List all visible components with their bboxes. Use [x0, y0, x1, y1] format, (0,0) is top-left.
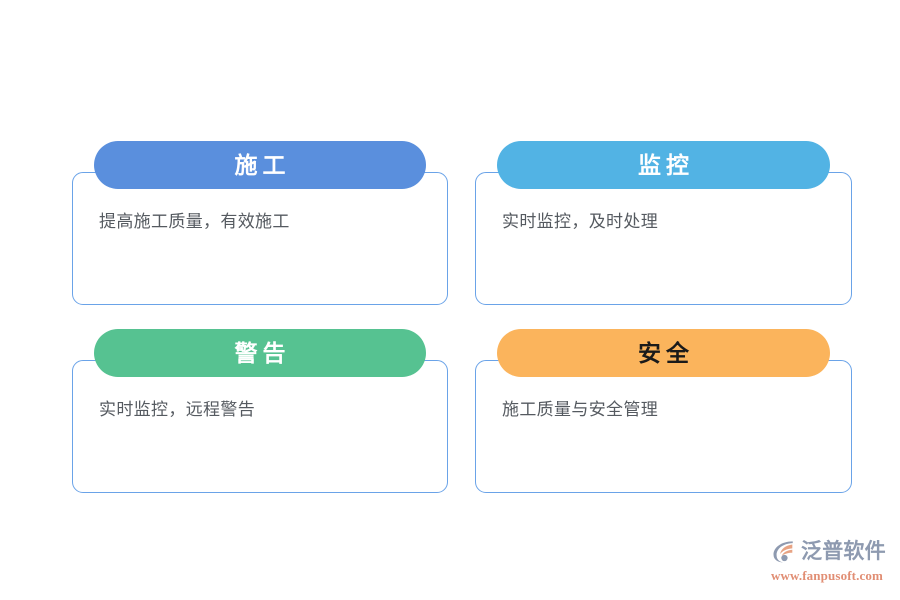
watermark: 泛普软件 www.fanpusoft.com	[770, 536, 888, 586]
fanpu-logo-icon	[770, 537, 798, 565]
card-description-monitoring: 实时监控，及时处理	[502, 209, 831, 235]
card-header-construction: 施工	[94, 141, 426, 189]
watermark-url-text: www.fanpusoft.com	[771, 569, 883, 582]
card-title-monitoring: 监控	[633, 154, 694, 177]
card-description-safety: 施工质量与安全管理	[502, 397, 831, 423]
card-header-monitoring: 监控	[497, 141, 830, 189]
card-header-safety: 安全	[497, 329, 830, 377]
page-canvas: 施工 提高施工质量，有效施工 监控 实时监控，及时处理 警告 实时监控，远程警告…	[0, 0, 900, 600]
feature-card-safety[interactable]: 安全 施工质量与安全管理	[475, 360, 852, 493]
card-title-construction: 施工	[229, 154, 290, 177]
feature-card-warning[interactable]: 警告 实时监控，远程警告	[72, 360, 448, 493]
card-header-warning: 警告	[94, 329, 426, 377]
card-title-safety: 安全	[633, 342, 694, 365]
card-title-warning: 警告	[229, 342, 290, 365]
card-description-construction: 提高施工质量，有效施工	[99, 209, 427, 235]
watermark-brand-text: 泛普软件	[801, 541, 886, 562]
feature-card-construction[interactable]: 施工 提高施工质量，有效施工	[72, 172, 448, 305]
card-description-warning: 实时监控，远程警告	[99, 397, 427, 423]
feature-card-monitoring[interactable]: 监控 实时监控，及时处理	[475, 172, 852, 305]
watermark-row: 泛普软件	[770, 536, 886, 566]
